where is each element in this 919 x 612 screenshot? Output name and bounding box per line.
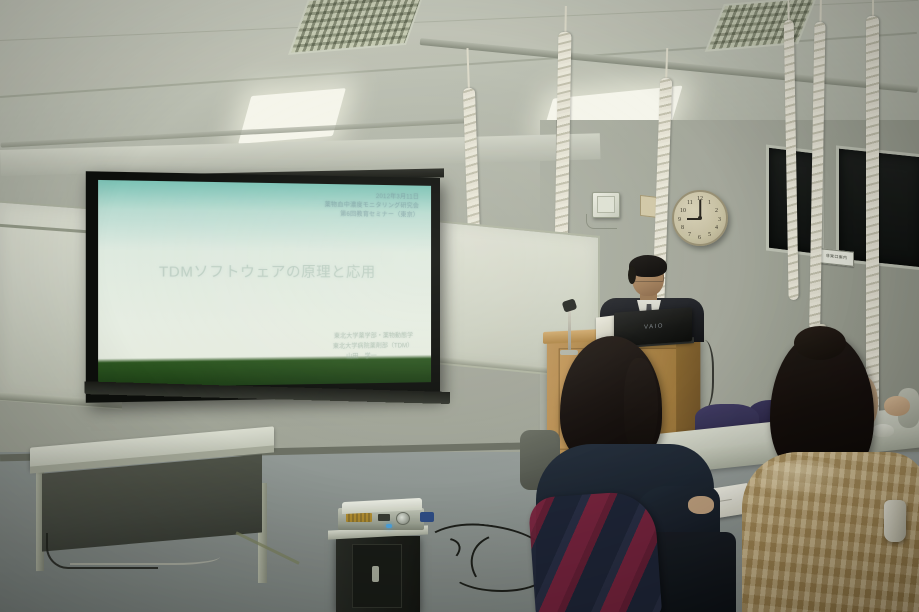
slide-footer-line: 山田 学一 xyxy=(346,351,377,360)
projector-cart xyxy=(336,536,420,612)
lecture-hall-photo: 非常口案内 12 1 2 3 4 5 6 7 8 9 10 11 2012年3月… xyxy=(0,0,919,612)
projector-plug xyxy=(420,512,434,522)
power-plug xyxy=(884,500,906,542)
slide-surface: 2012年3月11日 薬物血中濃度モニタリング研究会 第6回教育セミナー（東京）… xyxy=(98,180,431,388)
slide-title: TDMソフトウェアの原理と応用 xyxy=(98,261,431,282)
presenter-hair xyxy=(628,266,636,284)
sweater-highlight xyxy=(758,460,848,500)
desk-cables xyxy=(70,537,220,565)
slide-content: 2012年3月11日 薬物血中濃度モニタリング研究会 第6回教育セミナー（東京）… xyxy=(98,180,431,388)
projector xyxy=(338,500,424,530)
cord-coil xyxy=(784,20,799,300)
desk-left xyxy=(30,437,274,555)
projector-vent xyxy=(346,513,372,522)
plaid-scarf xyxy=(528,490,662,612)
projection-screen: 2012年3月11日 薬物血中濃度モニタリング研究会 第6回教育セミナー（東京）… xyxy=(86,171,440,403)
attendee-cream xyxy=(742,332,919,612)
attendee-hair xyxy=(624,358,658,454)
attendee-hand xyxy=(688,496,714,514)
cord-lead xyxy=(787,0,789,20)
cord-lead xyxy=(564,6,566,32)
attendee-hair-bun xyxy=(794,326,846,360)
cord-lead xyxy=(819,0,821,22)
cord-lead xyxy=(872,0,874,16)
slide-header-line: 第6回教育セミナー（東京） xyxy=(340,209,419,219)
projector-cart-handle xyxy=(372,566,379,582)
slide-footer-line: 東北大学薬学部・薬物動態学 xyxy=(334,330,413,340)
projector-power-led xyxy=(386,524,392,528)
projector-lens-icon xyxy=(396,512,410,525)
hanging-power-cord xyxy=(783,0,798,300)
hanging-power-cord xyxy=(809,0,826,330)
cord-lead xyxy=(665,48,668,78)
cord-lead xyxy=(466,48,469,88)
cord-coil xyxy=(809,22,825,330)
slide-footer-line: 東北大学病院薬剤部（TDM） xyxy=(333,340,413,350)
projector-port xyxy=(378,514,390,521)
attendee-navy xyxy=(536,336,726,612)
